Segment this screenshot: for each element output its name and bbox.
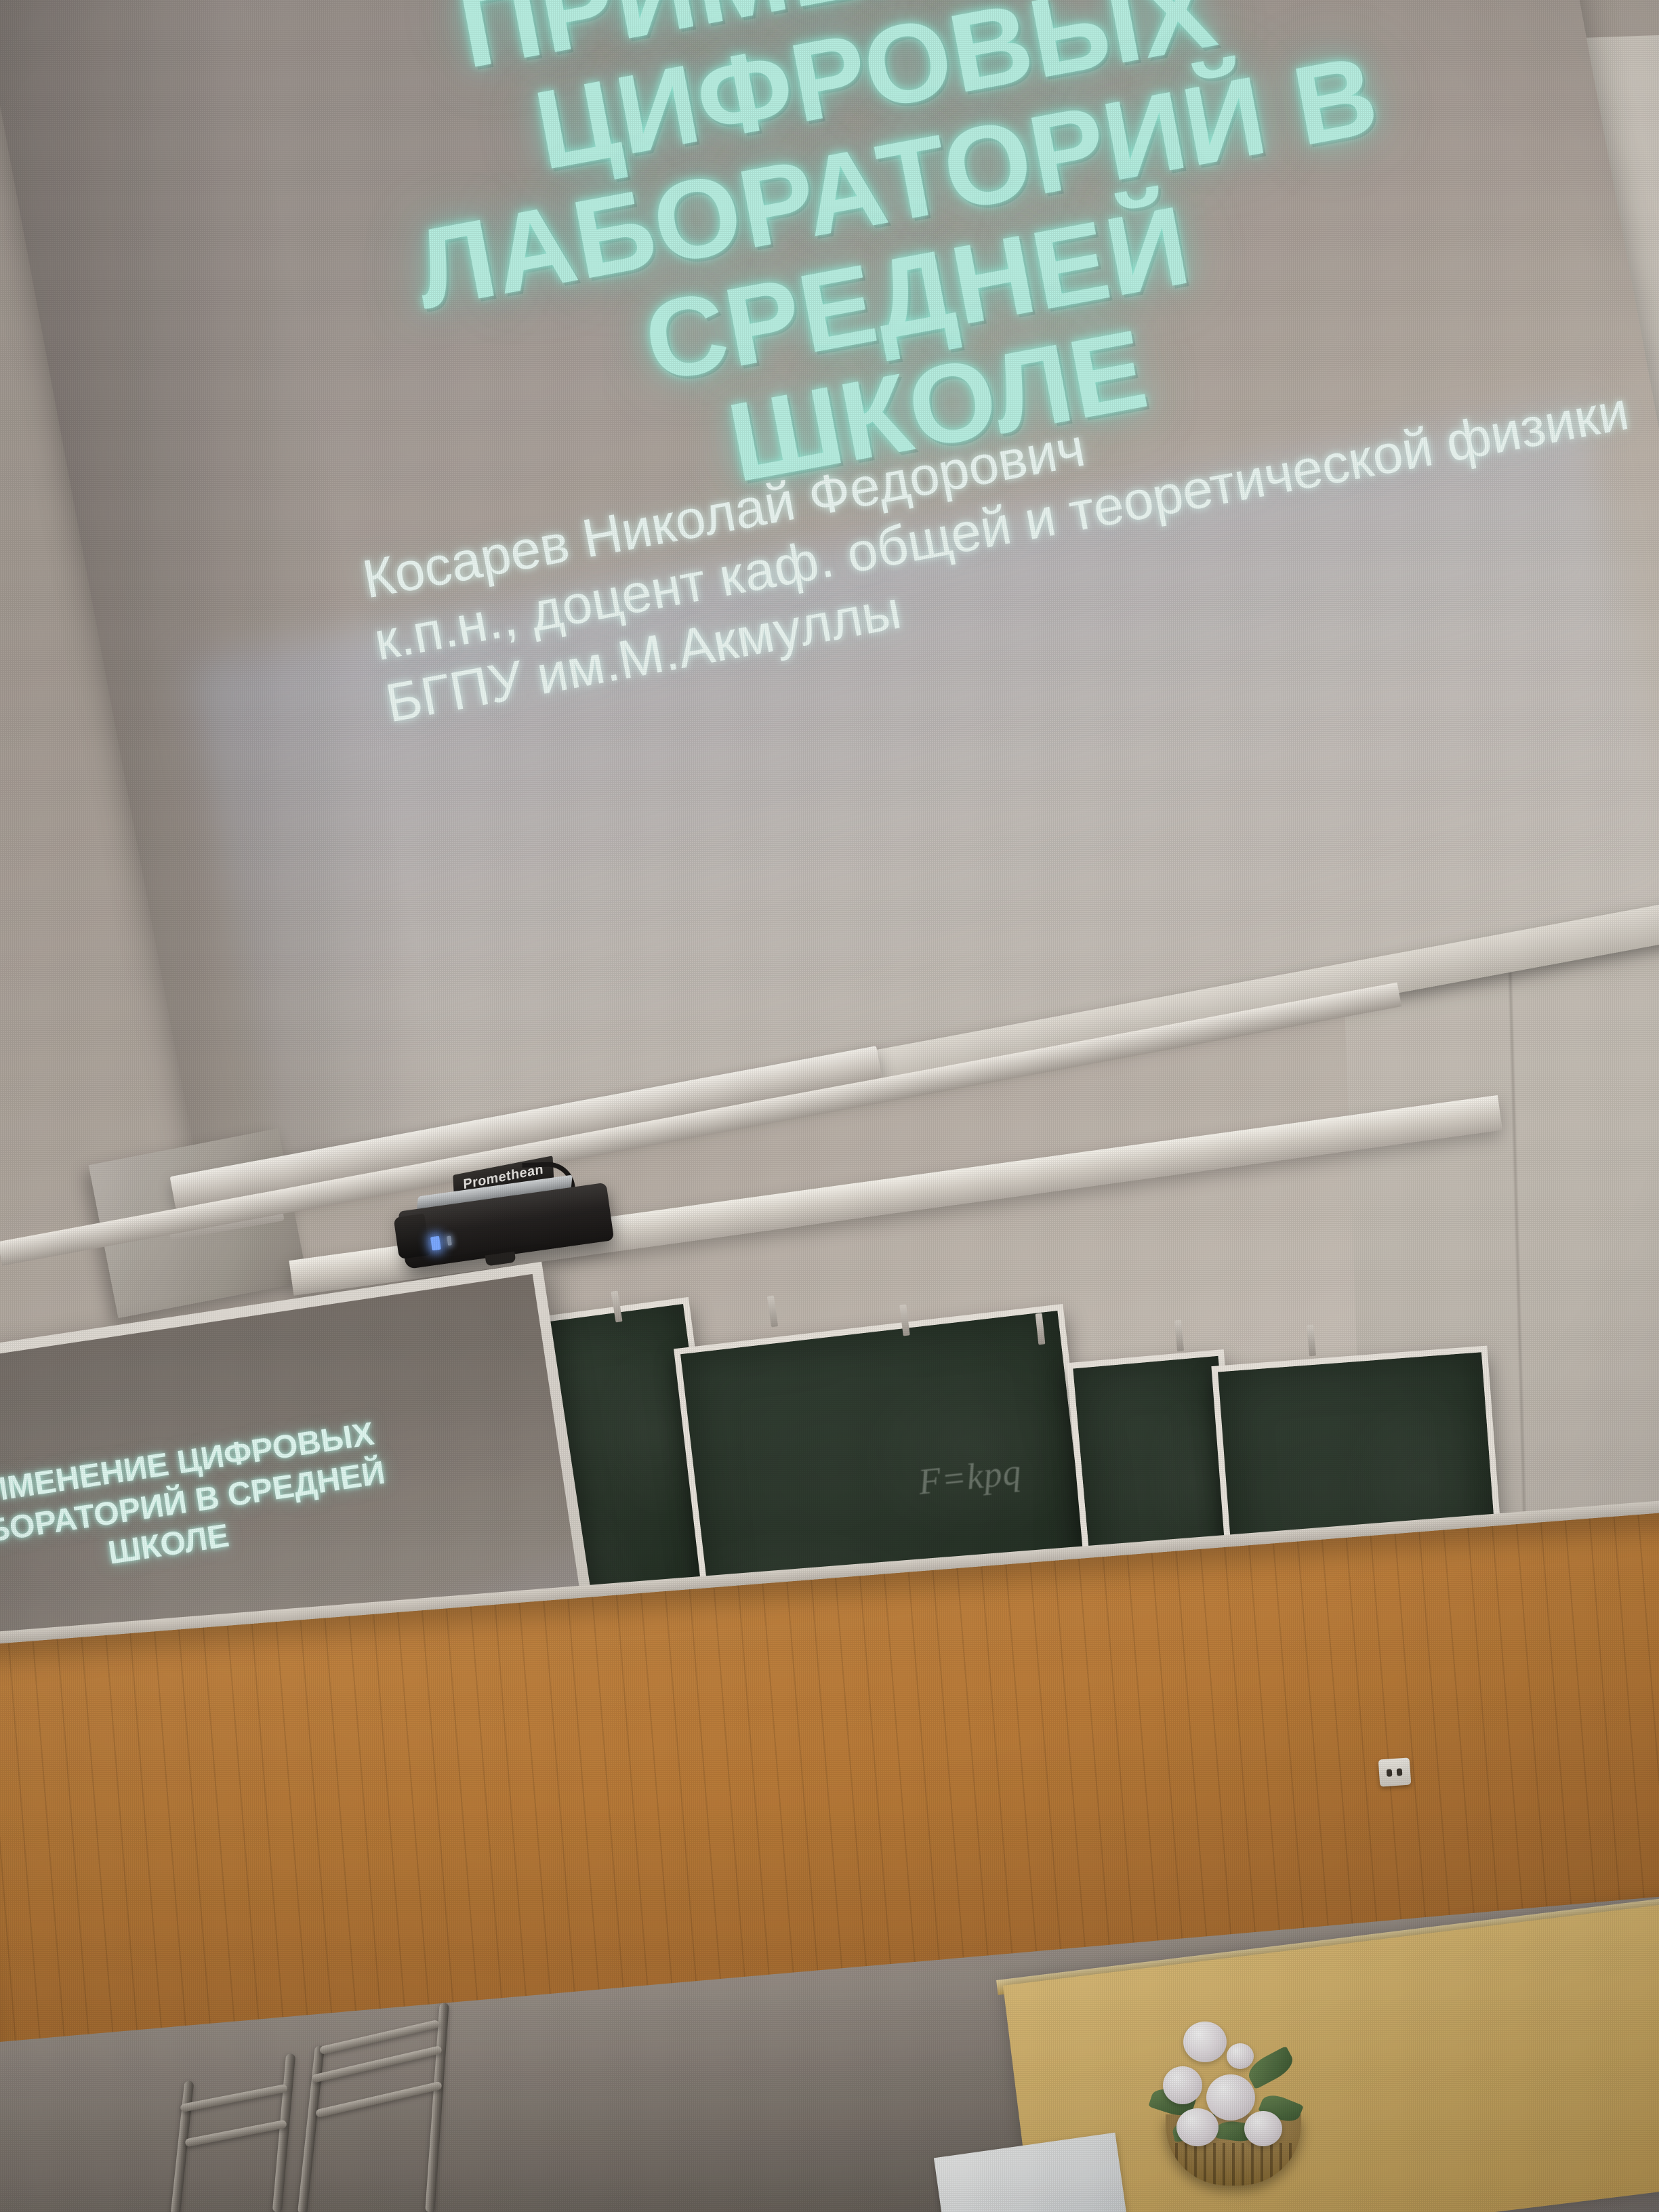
- iwb-slide-title: ПРИМЕНЕНИЕ ЦИФРОВЫХ ЛАБОРАТОРИЙ В СРЕДНЕ…: [0, 1412, 406, 1599]
- flower-bouquet: [1145, 2016, 1328, 2145]
- projector-lens-icon: [394, 1213, 430, 1259]
- projector-power-led: [430, 1236, 441, 1251]
- lecture-hall-photo: ПРИМЕНЕНИЕ ЦИФРОВЫХ ЛАБОРАТОРИЙ В СРЕДНЕ…: [0, 0, 1659, 2212]
- power-outlet-icon[interactable]: [1378, 1757, 1412, 1786]
